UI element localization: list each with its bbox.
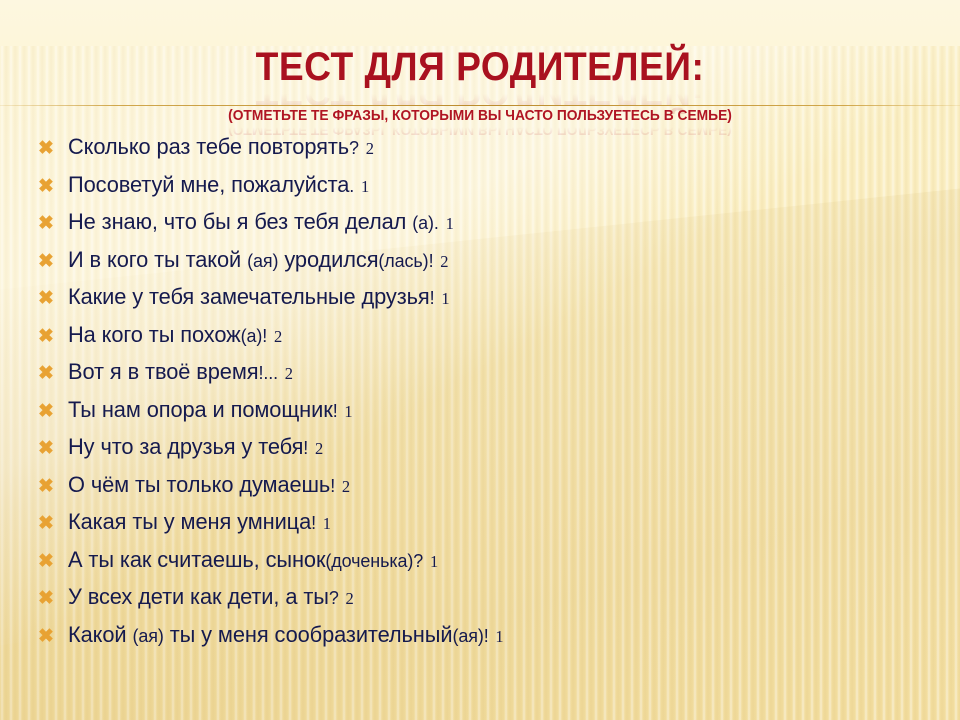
phrase-list-item[interactable]: ✖Какой (ая) ты у меня сообразительный(ая… bbox=[34, 622, 936, 660]
presentation-slide: Тест для родителей: Тест для родителей: … bbox=[0, 0, 960, 720]
cross-bullet-icon: ✖ bbox=[34, 364, 68, 383]
slide-title: Тест для родителей: bbox=[34, 44, 927, 90]
phrase-text: На кого ты похож(а)!2 bbox=[68, 322, 282, 348]
phrase-text: Сколько раз тебе повторять?2 bbox=[68, 134, 374, 160]
phrase-text: Ну что за друзья у тебя!2 bbox=[68, 434, 323, 460]
phrase-list-item[interactable]: ✖Какая ты у меня умница!1 bbox=[34, 509, 936, 547]
cross-bullet-icon: ✖ bbox=[34, 252, 68, 271]
phrase-text: У всех дети как дети, а ты?2 bbox=[68, 584, 354, 610]
cross-bullet-icon: ✖ bbox=[34, 327, 68, 346]
phrase-list-item[interactable]: ✖Посоветуй мне, пожалуйста.1 bbox=[34, 172, 936, 210]
cross-bullet-icon: ✖ bbox=[34, 139, 68, 158]
phrase-list-item[interactable]: ✖У всех дети как дети, а ты?2 bbox=[34, 584, 936, 622]
phrase-score-value: 2 bbox=[366, 139, 374, 158]
cross-bullet-icon: ✖ bbox=[34, 477, 68, 496]
slide-subtitle: (Отметьте те фразы, которыми вы часто по… bbox=[38, 106, 921, 126]
phrase-score-value: 1 bbox=[446, 214, 454, 233]
phrase-score-value: 1 bbox=[441, 289, 449, 308]
phrase-score-value: 2 bbox=[285, 364, 293, 383]
phrase-checklist: ✖Сколько раз тебе повторять?2✖Посоветуй … bbox=[34, 134, 936, 659]
phrase-score-value: 1 bbox=[430, 552, 438, 571]
phrase-score-value: 2 bbox=[315, 439, 323, 458]
phrase-text: Какая ты у меня умница!1 bbox=[68, 509, 331, 535]
cross-bullet-icon: ✖ bbox=[34, 402, 68, 421]
phrase-score-value: 2 bbox=[274, 327, 282, 346]
phrase-text: Посоветуй мне, пожалуйста.1 bbox=[68, 172, 369, 198]
phrase-text: Какие у тебя замечательные друзья!1 bbox=[68, 284, 449, 310]
cross-bullet-icon: ✖ bbox=[34, 177, 68, 196]
phrase-list-item[interactable]: ✖О чём ты только думаешь!2 bbox=[34, 472, 936, 510]
cross-bullet-icon: ✖ bbox=[34, 514, 68, 533]
phrase-text: Не знаю, что бы я без тебя делал (а).1 bbox=[68, 209, 454, 235]
phrase-text: Какой (ая) ты у меня сообразительный(ая)… bbox=[68, 622, 504, 648]
phrase-text: И в кого ты такой (ая) уродился(лась)!2 bbox=[68, 247, 448, 273]
cross-bullet-icon: ✖ bbox=[34, 439, 68, 458]
phrase-list-item[interactable]: ✖На кого ты похож(а)!2 bbox=[34, 322, 936, 360]
phrase-list-item[interactable]: ✖Ну что за друзья у тебя!2 bbox=[34, 434, 936, 472]
phrase-list-item[interactable]: ✖Вот я в твоё время!...2 bbox=[34, 359, 936, 397]
cross-bullet-icon: ✖ bbox=[34, 552, 68, 571]
phrase-text: А ты как считаешь, сынок(доченька)?1 bbox=[68, 547, 438, 573]
phrase-score-value: 1 bbox=[344, 402, 352, 421]
cross-bullet-icon: ✖ bbox=[34, 627, 68, 646]
cross-bullet-icon: ✖ bbox=[34, 289, 68, 308]
phrase-list-item[interactable]: ✖Какие у тебя замечательные друзья!1 bbox=[34, 284, 936, 322]
phrase-score-value: 2 bbox=[440, 252, 448, 271]
phrase-score-value: 1 bbox=[361, 177, 369, 196]
phrase-list-item[interactable]: ✖А ты как считаешь, сынок(доченька)?1 bbox=[34, 547, 936, 585]
phrase-list-item[interactable]: ✖И в кого ты такой (ая) уродился(лась)!2 bbox=[34, 247, 936, 285]
phrase-text: О чём ты только думаешь!2 bbox=[68, 472, 350, 498]
phrase-list-item[interactable]: ✖Сколько раз тебе повторять?2 bbox=[34, 134, 936, 172]
phrase-list-item[interactable]: ✖Не знаю, что бы я без тебя делал (а).1 bbox=[34, 209, 936, 247]
phrase-score-value: 2 bbox=[346, 589, 354, 608]
cross-bullet-icon: ✖ bbox=[34, 214, 68, 233]
phrase-text: Вот я в твоё время!...2 bbox=[68, 359, 293, 385]
phrase-score-value: 2 bbox=[342, 477, 350, 496]
phrase-text: Ты нам опора и помощник!1 bbox=[68, 397, 353, 423]
phrase-score-value: 1 bbox=[323, 514, 331, 533]
title-area: Тест для родителей: bbox=[0, 44, 960, 110]
phrase-score-value: 1 bbox=[495, 627, 503, 646]
background-top-band bbox=[0, 0, 960, 46]
phrase-list-item[interactable]: ✖Ты нам опора и помощник!1 bbox=[34, 397, 936, 435]
cross-bullet-icon: ✖ bbox=[34, 589, 68, 608]
